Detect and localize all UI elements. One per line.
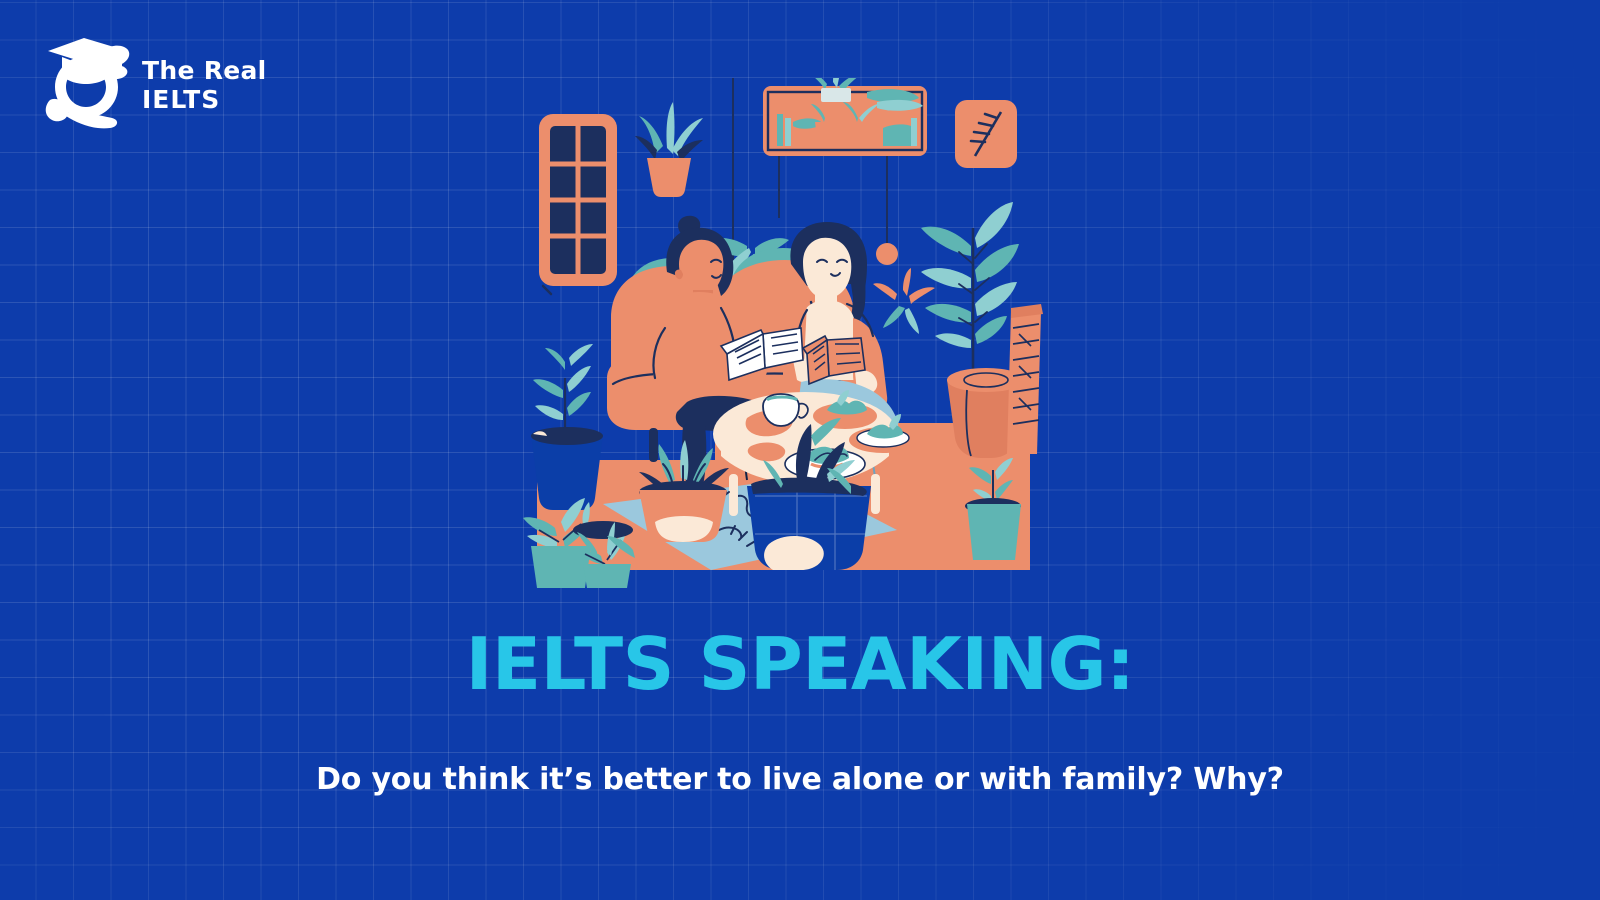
graduation-cap-mascot-icon — [40, 36, 132, 134]
brand-logo[interactable]: The Real IELTS — [40, 36, 267, 134]
question-subtitle: Do you think it’s better to live alone o… — [0, 762, 1600, 798]
brand-logo-line1: The Real — [142, 56, 267, 86]
poster-canvas: The Real IELTS — [0, 0, 1600, 900]
hero-illustration — [515, 78, 1055, 588]
coral-sprig-decor — [873, 268, 935, 334]
page-title: IELTS SPEAKING: — [0, 628, 1600, 700]
brand-logo-text: The Real IELTS — [142, 56, 267, 115]
window-illustration — [539, 114, 617, 294]
tall-floor-tree-plant — [921, 202, 1019, 378]
potted-plant-wall-left — [635, 102, 703, 197]
brand-logo-line2: IELTS — [142, 85, 267, 115]
framed-leaf-picture — [955, 100, 1017, 168]
floor-plant-navy-pot-left — [531, 344, 603, 510]
